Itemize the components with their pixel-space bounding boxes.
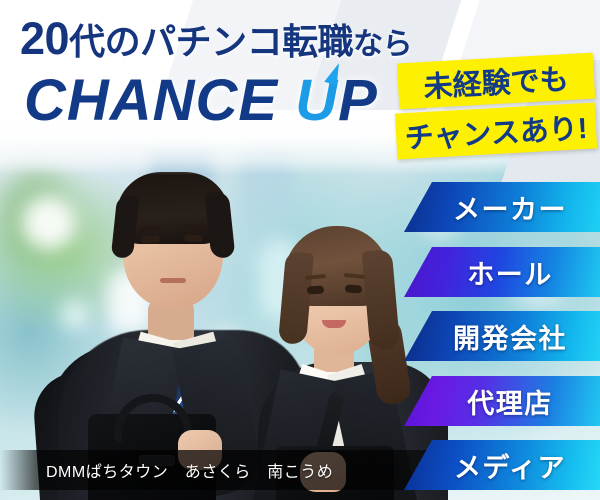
category-label-developer: 開発会社 <box>437 317 567 356</box>
chance-up-logo: CHANCE UP <box>24 72 378 130</box>
category-label-maker: メーカー <box>437 188 567 227</box>
category-button-maker[interactable]: メーカー <box>404 182 600 232</box>
logo-chance-text: CHANCE <box>24 68 278 133</box>
category-button-hall[interactable]: ホール <box>404 247 600 297</box>
headline-suffix: なら <box>353 28 412 61</box>
logo-p-text: P <box>338 68 378 133</box>
category-button-agency[interactable]: 代理店 <box>404 376 600 426</box>
category-button-developer[interactable]: 開発会社 <box>404 311 600 361</box>
headline-main: 代のパチンコ転職 <box>69 21 353 62</box>
category-label-agency: 代理店 <box>451 382 553 421</box>
category-label-hall: ホール <box>451 253 553 292</box>
category-label-media: メディア <box>438 446 566 485</box>
logo-u-letter: U <box>295 72 338 130</box>
badge-chance-available-label: チャンスあり! <box>404 105 589 157</box>
category-button-media[interactable]: メディア <box>404 440 600 490</box>
badge-no-experience-label: 未経験でも <box>422 56 569 106</box>
headline: 20代のパチンコ転職なら <box>20 16 412 61</box>
headline-number: 20 <box>20 13 69 64</box>
advertisement-banner[interactable]: 20代のパチンコ転職なら CHANCE UP 未経験でも チャンスあり! メーカ… <box>0 0 600 500</box>
